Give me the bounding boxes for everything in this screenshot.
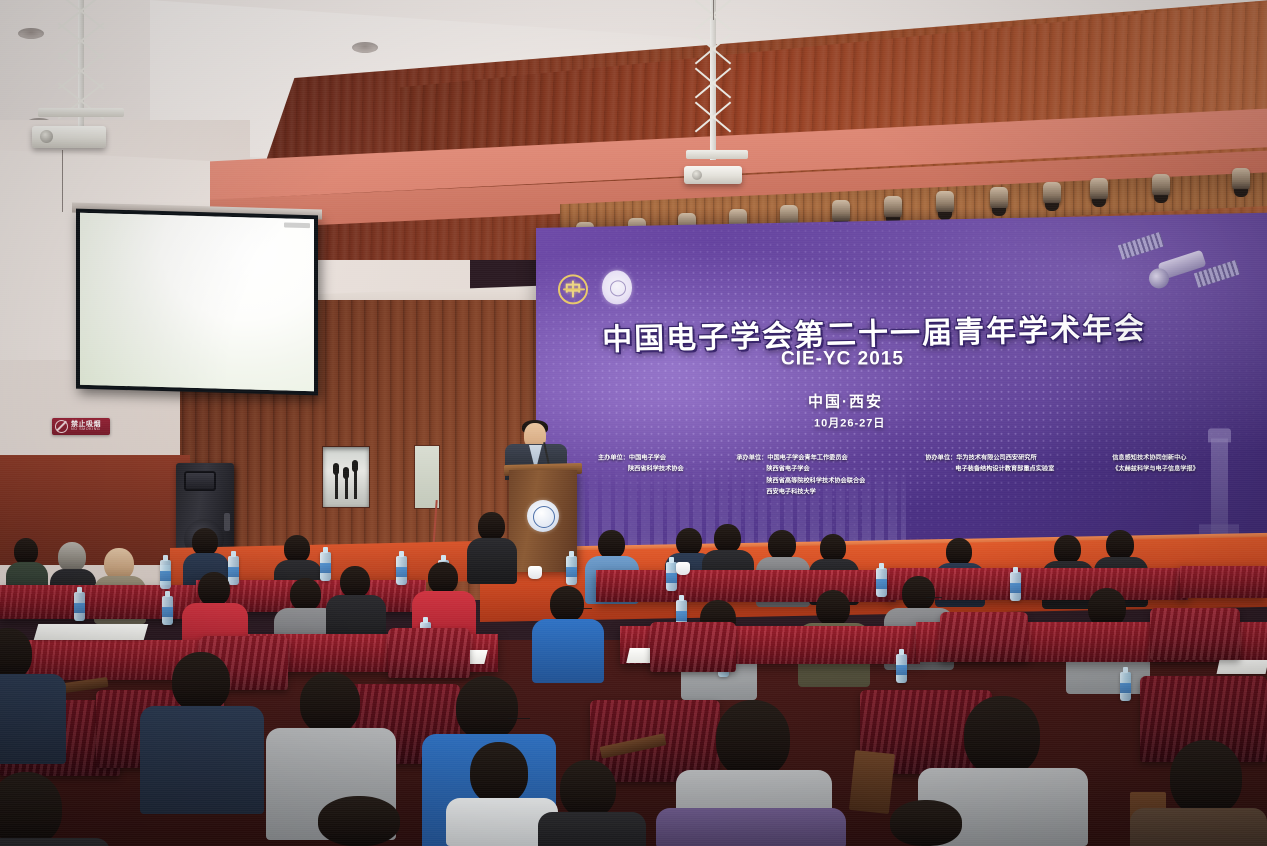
bottle-label — [676, 611, 687, 621]
handout-paper — [34, 624, 149, 640]
xidian-logo — [602, 270, 632, 304]
water-bottle — [1120, 672, 1131, 701]
head — [1170, 740, 1242, 816]
water-bottle — [228, 556, 239, 585]
no-smoking-icon — [55, 420, 68, 433]
no-smoking-sign: 禁止吸烟 NO SMOKING — [52, 418, 110, 435]
head — [300, 672, 360, 734]
organizer-block: 主办单位：中国电子学会 陕西省科学技术协会 承办单位：中国电子学会青年工作委员会… — [598, 452, 1258, 498]
projector-mount-plate — [38, 108, 124, 117]
tower-top — [1208, 428, 1231, 442]
tea-cup — [528, 566, 542, 579]
head — [714, 524, 741, 553]
speaker-handle — [224, 513, 230, 531]
head — [890, 800, 962, 846]
water-bottle — [876, 568, 887, 597]
organizer-line: 电子装备结构设计教育部重点实验室 — [925, 464, 1098, 475]
stage-spotlight — [990, 187, 1008, 211]
organizer-line: 陕西省电子学会 — [736, 464, 911, 475]
organizer-line: 陕西省高等院校科学技术协会联合会 — [736, 475, 911, 486]
head — [550, 586, 584, 622]
organizer-column-host: 主办单位：中国电子学会 陕西省科学技术协会 — [598, 452, 722, 498]
microphone-icon — [333, 463, 339, 475]
organizer-column-undertaker: 承办单位：中国电子学会青年工作委员会 陕西省电子学会 陕西省高等院校科学技术协会… — [736, 452, 911, 498]
torso — [1130, 808, 1267, 846]
banner-subtitle: CIE-YC 2015 — [781, 348, 904, 370]
head — [1106, 530, 1134, 560]
screen-brand-logo — [284, 222, 310, 228]
organizer-line: 陕西省科学技术协会 — [598, 464, 722, 475]
bottle-label — [666, 573, 677, 583]
head — [198, 572, 230, 606]
head — [946, 538, 972, 566]
projection-screen-surface — [80, 213, 314, 392]
head — [816, 590, 850, 626]
audience-chair — [940, 612, 1028, 662]
microphone-icon — [352, 460, 358, 472]
glasses-icon — [508, 718, 530, 723]
projector-lens — [40, 130, 53, 143]
glasses-icon — [926, 597, 942, 602]
head — [428, 562, 458, 594]
bottle-label — [160, 571, 171, 581]
projector-cable — [713, 0, 714, 20]
head — [172, 652, 230, 712]
satellite-solar-panel — [1118, 232, 1164, 260]
bottle-label — [566, 567, 577, 577]
organizer-line: 协办单位：华为技术有限公司西安研究所 — [925, 452, 1098, 463]
water-bottle — [320, 552, 331, 581]
water-bottle — [396, 556, 407, 585]
water-bottle — [566, 556, 577, 585]
head — [58, 542, 86, 572]
head — [340, 566, 370, 598]
chair-wooden-arm — [849, 750, 895, 814]
head — [964, 696, 1040, 776]
head — [470, 742, 528, 804]
head — [478, 512, 505, 541]
head — [820, 534, 846, 562]
head — [290, 578, 321, 611]
conference-hall-photo: 禁止吸烟 NO SMOKING — [0, 0, 1267, 846]
head — [192, 528, 218, 556]
organizer-line: 信息感知技术协同创新中心 — [1112, 452, 1258, 463]
water-bottle — [1010, 572, 1021, 601]
stage-spotlight — [1043, 182, 1061, 206]
projector-mount-plate — [686, 150, 748, 159]
projector-lens — [692, 170, 702, 180]
head — [318, 796, 400, 846]
head — [0, 772, 62, 846]
cie-logo: 中 — [558, 274, 588, 304]
glasses-icon — [576, 608, 592, 613]
water-bottle — [74, 592, 85, 621]
audience-chair — [650, 622, 736, 672]
bottle-label — [320, 563, 331, 573]
tea-cup — [676, 562, 690, 575]
ceiling-projector-center — [684, 166, 742, 184]
no-smoking-label-en: NO SMOKING — [71, 428, 101, 432]
projector-cable — [62, 150, 63, 212]
bottle-label — [1120, 683, 1131, 693]
torso — [656, 808, 846, 846]
organizer-line: 《太赫兹科学与电子信息学报》 — [1112, 464, 1258, 475]
speaker-horn — [184, 471, 216, 491]
stage-spotlight — [884, 196, 902, 220]
conference-table — [596, 570, 896, 602]
torso — [532, 619, 604, 683]
scissor-arms — [690, 0, 736, 160]
organizer-line: 主办单位：中国电子学会 — [598, 452, 722, 463]
head — [14, 538, 38, 565]
stage-spotlight — [1232, 168, 1250, 192]
head — [560, 760, 616, 818]
ceiling-downlight — [18, 28, 44, 39]
ceiling-projector-left — [32, 126, 106, 148]
organizer-column-coorganizer: 协办单位：华为技术有限公司西安研究所 电子装备结构设计教育部重点实验室 — [925, 452, 1098, 498]
projection-screen — [76, 209, 318, 396]
stage-spotlight — [1152, 174, 1170, 198]
torso — [538, 812, 646, 846]
water-bottle — [160, 560, 171, 589]
audience-chair — [388, 628, 470, 678]
stage-spotlight — [1090, 178, 1108, 202]
head — [1054, 535, 1081, 564]
torso — [0, 838, 110, 846]
organizer-line: 承办单位：中国电子学会青年工作委员会 — [736, 452, 911, 463]
water-bottle — [896, 654, 907, 683]
head — [598, 530, 625, 559]
stage-spotlight — [936, 191, 954, 215]
head — [456, 676, 518, 740]
head — [676, 528, 702, 556]
bottle-label — [1010, 583, 1021, 593]
bottle-label — [396, 567, 407, 577]
handout-paper — [1217, 660, 1267, 674]
bottle-label — [162, 607, 173, 617]
conference-table — [1180, 566, 1267, 598]
stage-backdrop-banner: 中 中国电子学会第二十一届青年学术年会 CIE-YC 2015 中国·西安 10… — [536, 213, 1267, 560]
torso — [140, 706, 264, 814]
microphone-wall-niche — [322, 446, 370, 508]
stage-spotlight — [832, 200, 850, 224]
torso — [467, 538, 517, 584]
water-bottle — [162, 596, 173, 625]
bottle-label — [74, 603, 85, 613]
head — [768, 530, 796, 560]
audience-chair — [1150, 608, 1240, 660]
bottle-label — [876, 579, 887, 589]
bottle-label — [896, 665, 907, 675]
torso — [0, 674, 66, 764]
head — [284, 535, 310, 563]
organizer-line: 西安电子科技大学 — [736, 487, 911, 498]
university-crest-icon — [527, 500, 559, 532]
bottle-label — [228, 567, 239, 577]
banner-date: 10月26-27日 — [814, 414, 885, 430]
organizer-column-support: 信息感知技术协同创新中心 《太赫兹科学与电子信息学报》 — [1112, 452, 1258, 498]
head — [716, 700, 790, 778]
banner-city: 中国·西安 — [808, 390, 883, 411]
microphone-icon — [343, 467, 349, 479]
head — [902, 576, 935, 611]
projector-lift-center — [690, 0, 736, 160]
ceiling-downlight — [352, 42, 378, 53]
